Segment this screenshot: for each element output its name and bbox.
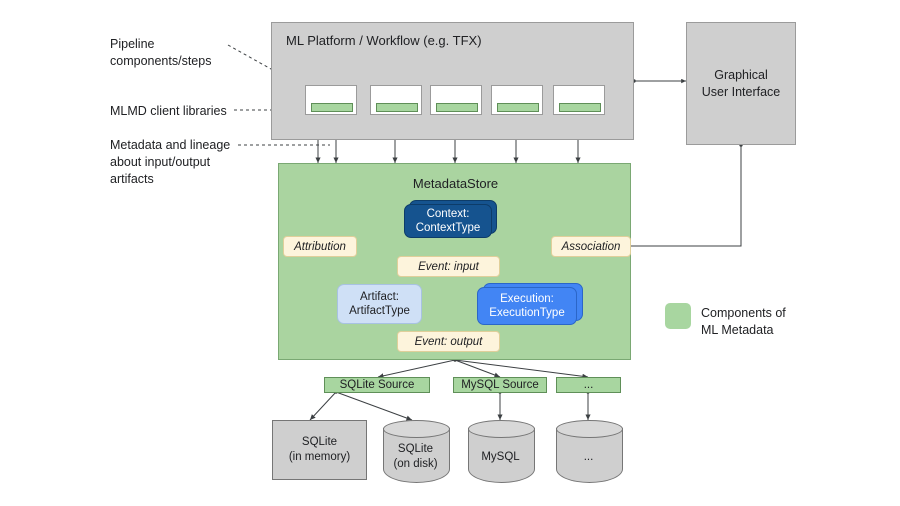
diagram-canvas: Pipeline components/steps MLMD client li…: [0, 0, 900, 506]
mlmd-client-library-bar-4: [497, 103, 539, 112]
attribution-relation[interactable]: Attribution: [283, 236, 357, 257]
database-label: MySQL: [468, 450, 533, 465]
annotation-mlmd-client-libraries: MLMD client libraries: [110, 103, 245, 120]
event-output-relation[interactable]: Event: output: [397, 331, 500, 352]
pipeline-component-5[interactable]: [553, 85, 605, 115]
database-label: SQLite (on disk): [383, 442, 448, 472]
source-box-sqlite[interactable]: SQLite Source: [324, 377, 430, 393]
database-sqlite-in-memory[interactable]: SQLite (in memory): [272, 420, 367, 480]
cylinder-top: [468, 420, 535, 438]
annotation-metadata-lineage: Metadata and lineage about input/output …: [110, 137, 250, 187]
pipeline-component-1[interactable]: [305, 85, 357, 115]
database-label: ...: [556, 450, 621, 465]
ml-platform-title: ML Platform / Workflow (e.g. TFX): [286, 33, 482, 48]
source-box-mysql[interactable]: MySQL Source: [453, 377, 547, 393]
pipeline-component-4[interactable]: [491, 85, 543, 115]
legend-color-swatch: [665, 303, 691, 329]
association-relation[interactable]: Association: [551, 236, 631, 257]
context-node[interactable]: Context: ContextType: [404, 204, 492, 238]
metadata-store-title: MetadataStore: [279, 176, 632, 191]
source-box-other[interactable]: ...: [556, 377, 621, 393]
graphical-user-interface-box[interactable]: Graphical User Interface: [686, 22, 796, 145]
pipeline-component-3[interactable]: [430, 85, 482, 115]
mlmd-client-library-bar-1: [311, 103, 353, 112]
ml-platform-panel: ML Platform / Workflow (e.g. TFX): [271, 22, 634, 140]
artifact-node[interactable]: Artifact: ArtifactType: [337, 284, 422, 324]
event-input-relation[interactable]: Event: input: [397, 256, 500, 277]
database-sqlite-on-disk[interactable]: SQLite (on disk): [383, 420, 448, 482]
cylinder-top: [556, 420, 623, 438]
pipeline-component-2[interactable]: [370, 85, 422, 115]
database-mysql[interactable]: MySQL: [468, 420, 533, 482]
cylinder-top: [383, 420, 450, 438]
mlmd-client-library-bar-5: [559, 103, 601, 112]
database-other[interactable]: ...: [556, 420, 621, 482]
annotation-pipeline-components: Pipeline components/steps: [110, 36, 235, 70]
mlmd-client-library-bar-2: [376, 103, 418, 112]
legend-label: Components of ML Metadata: [701, 305, 851, 339]
mlmd-client-library-bar-3: [436, 103, 478, 112]
execution-node[interactable]: Execution: ExecutionType: [477, 287, 577, 325]
